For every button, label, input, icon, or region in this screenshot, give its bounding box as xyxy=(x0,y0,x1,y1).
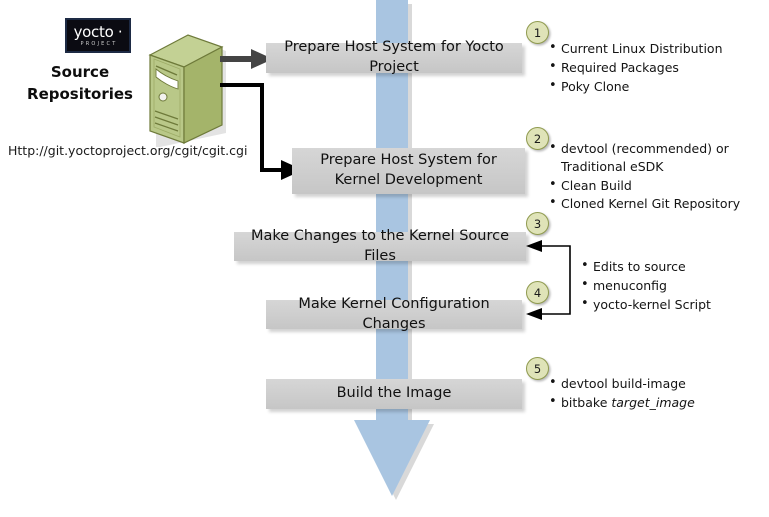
step-1-box: Prepare Host System for Yocto Project xyxy=(266,43,522,73)
steps-3-4-bullet-list: Edits to source menuconfig yocto-kernel … xyxy=(580,258,760,314)
step-2-bullet-list: devtool (recommended) or Traditional eSD… xyxy=(548,140,760,214)
list-item: Required Packages xyxy=(548,59,763,77)
step-2-number-badge: 2 xyxy=(526,127,549,150)
step-3-box: Make Changes to the Kernel Source Files xyxy=(234,232,526,261)
step-2-box: Prepare Host System for Kernel Developme… xyxy=(292,148,525,194)
step-1-number-badge: 1 xyxy=(526,21,549,44)
source-repositories-label: Source Repositories xyxy=(20,62,140,106)
yocto-logo-wordmark: yocto · xyxy=(74,25,123,40)
yocto-project-logo: yocto · PROJECT xyxy=(65,18,131,53)
list-item: Clean Build xyxy=(548,177,760,195)
step-5-number: 5 xyxy=(534,362,541,376)
step-5-number-badge: 5 xyxy=(526,357,549,380)
step-5-box-label: Build the Image xyxy=(337,384,452,404)
step-1-box-label: Prepare Host System for Yocto Project xyxy=(276,38,512,77)
step-4-box: Make Kernel Configuration Changes xyxy=(266,300,522,329)
yocto-logo-subtext: PROJECT xyxy=(78,42,117,47)
list-item: devtool (recommended) or Traditional eSD… xyxy=(548,140,760,176)
list-item: bitbake target_image xyxy=(548,394,760,412)
list-item: Edits to source xyxy=(580,258,760,276)
step-3-number-badge: 3 xyxy=(526,212,549,235)
list-item: Poky Clone xyxy=(548,78,763,96)
source-label-line1: Source xyxy=(20,62,140,84)
list-item: menuconfig xyxy=(580,277,760,295)
step-1-number: 1 xyxy=(534,26,541,40)
step-3-number: 3 xyxy=(534,217,541,231)
list-item: Current Linux Distribution xyxy=(548,40,763,58)
step-2-box-label: Prepare Host System for Kernel Developme… xyxy=(302,151,515,190)
diagram-canvas: yocto · PROJECT Source Repositories Http… xyxy=(0,0,769,517)
step-3-box-label: Make Changes to the Kernel Source Files xyxy=(244,227,516,266)
list-item: Cloned Kernel Git Repository xyxy=(548,195,760,213)
step-5-italic-param: target_image xyxy=(611,395,694,410)
step-4-box-label: Make Kernel Configuration Changes xyxy=(276,295,512,334)
source-label-line2: Repositories xyxy=(20,84,140,106)
step-5-bullet-list: devtool build-image bitbake target_image xyxy=(548,375,760,413)
step-5-box: Build the Image xyxy=(266,379,522,409)
step-2-number: 2 xyxy=(534,132,541,146)
step-3-4-bracket-connector xyxy=(520,238,580,328)
list-item: devtool build-image xyxy=(548,375,760,393)
step-1-bullet-list: Current Linux Distribution Required Pack… xyxy=(548,40,763,96)
list-item: yocto-kernel Script xyxy=(580,296,760,314)
